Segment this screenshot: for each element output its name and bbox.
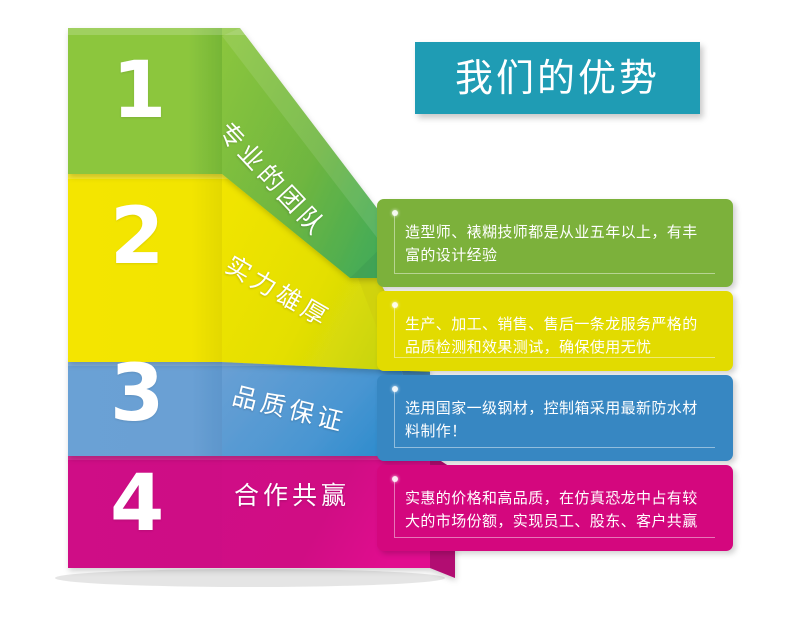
description-panel-4: 实惠的价格和高品质，在仿真恐龙中占有较大的市场份额，实现员工、股东、客户共赢 [377, 465, 733, 551]
description-panel-1: 造型师、裱糊技师都是从业五年以上，有丰富的设计经验 [377, 199, 733, 287]
bullet-dot-icon [392, 386, 398, 392]
description-text-1: 造型师、裱糊技师都是从业五年以上，有丰富的设计经验 [405, 221, 707, 268]
step-number-4: 4 [110, 465, 163, 543]
title-banner: 我们的优势 [415, 42, 700, 114]
description-panel-3: 选用国家一级钢材，控制箱采用最新防水材料制作！ [377, 375, 733, 461]
description-text-3: 选用国家一级钢材，控制箱采用最新防水材料制作！ [405, 397, 707, 444]
description-text-4: 实惠的价格和高品质，在仿真恐龙中占有较大的市场份额，实现员工、股东、客户共赢 [405, 487, 707, 534]
step-number-3: 3 [110, 355, 163, 433]
band-label-4: 合作共赢 [234, 483, 350, 508]
description-panel-2: 生产、加工、销售、售后一条龙服务严格的品质检测和效果测试，确保使用无忧 [377, 291, 733, 371]
description-text-2: 生产、加工、销售、售后一条龙服务严格的品质检测和效果测试，确保使用无忧 [405, 313, 707, 360]
bullet-dot-icon [392, 302, 398, 308]
step-number-1: 1 [112, 52, 165, 130]
bullet-dot-icon [392, 210, 398, 216]
bullet-dot-icon [392, 476, 398, 482]
infographic-canvas: 我们的优势 1 2 3 4 专业的团队 实力雄厚 品质保证 合作共赢 造型师、裱… [0, 0, 800, 622]
page-title: 我们的优势 [455, 59, 660, 97]
step-number-2: 2 [110, 198, 163, 276]
